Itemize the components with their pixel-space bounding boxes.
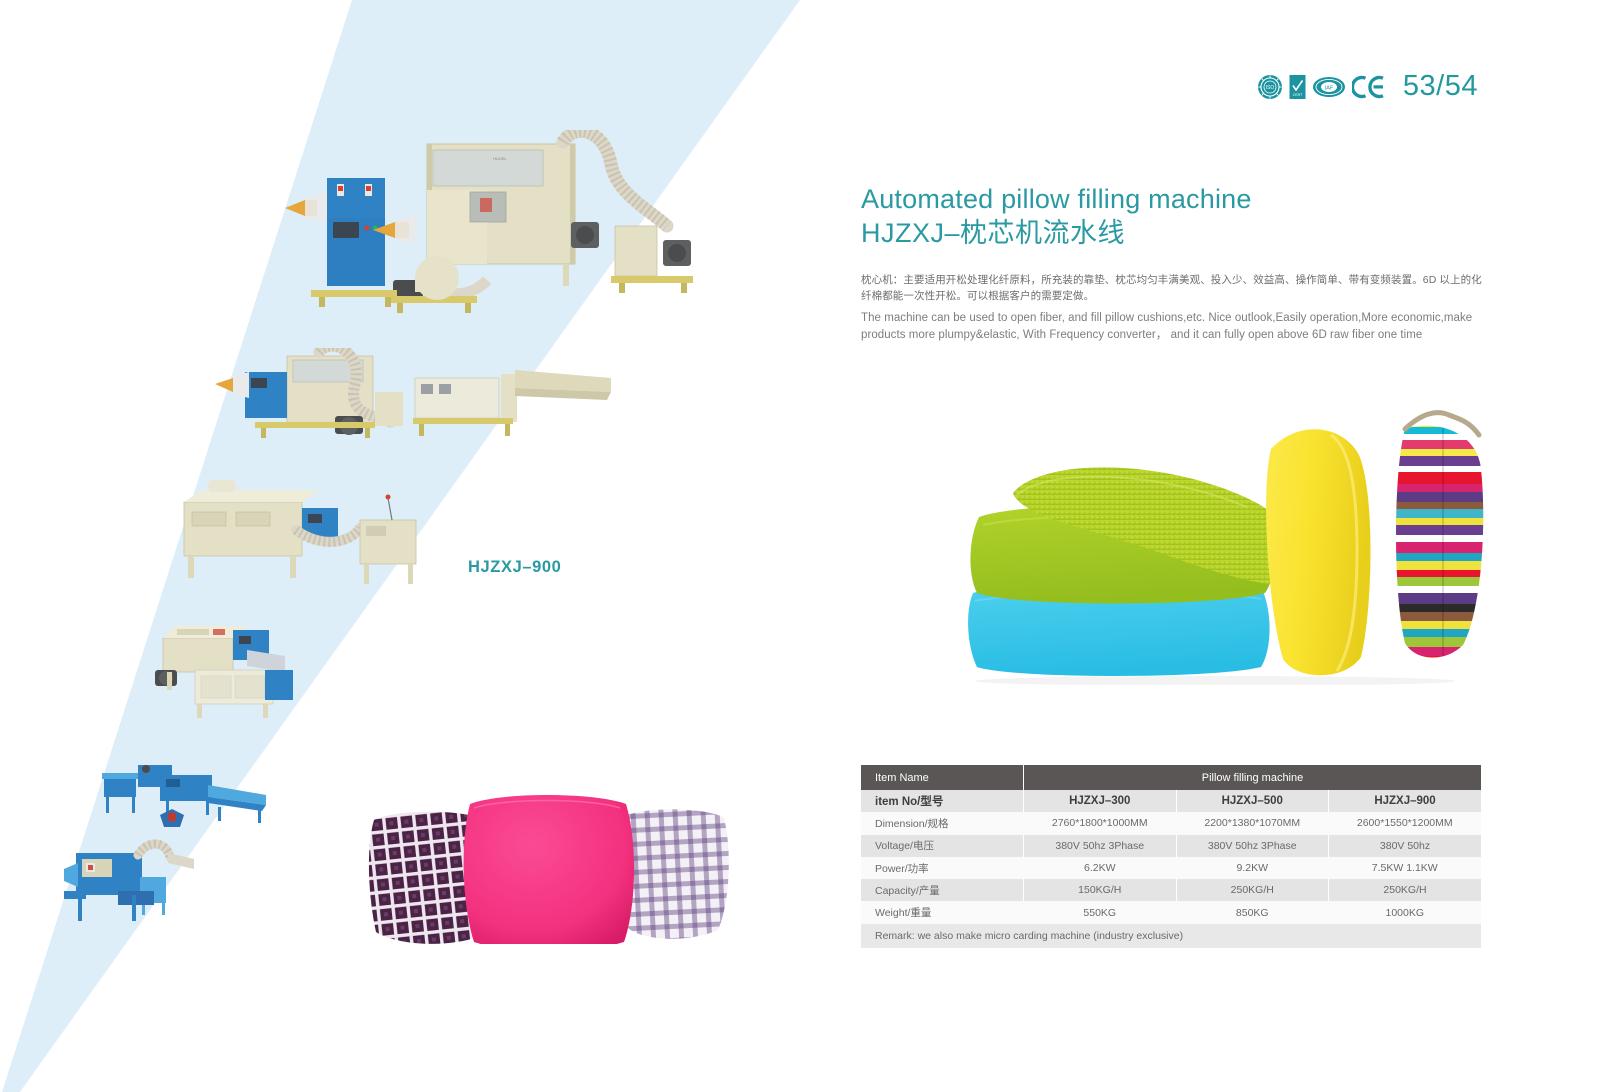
table-row: Power/功率 6.2KW 9.2KW 7.5KW 1.1KW (861, 857, 1481, 879)
remark-text: Remark: we also make micro carding machi… (861, 924, 1481, 948)
header-group: Pillow filling machine (1024, 765, 1482, 790)
row-cell: 2200*1380*1070MM (1176, 812, 1329, 834)
title-english: Automated pillow filling machine (861, 182, 1561, 216)
row-cell: 7.5KW 1.1KW (1329, 857, 1482, 879)
table-row: Voltage/电压 380V 50hz 3Phase 380V 50hz 3P… (861, 835, 1481, 857)
title-chinese: HJZXJ–枕芯机流水线 (861, 216, 1561, 250)
iso-cert-icon: ISO (1257, 74, 1283, 100)
model-label-hjzxj-900: HJZXJ–900 (468, 558, 561, 577)
row-cell: 550KG (1024, 901, 1177, 923)
row-cell: 250KG/H (1176, 879, 1329, 901)
row-label: Dimension/规格 (861, 812, 1024, 834)
table-row: item No/型号 HJZXJ–300 HJZXJ–500 HJZXJ–900 (861, 790, 1481, 812)
row-label: Capacity/产量 (861, 879, 1024, 901)
table-remark-row: Remark: we also make micro carding machi… (861, 924, 1481, 948)
svg-text:HUIJIN: HUIJIN (493, 156, 506, 161)
right-content-column: Automated pillow filling machine HJZXJ–枕… (860, 0, 1600, 1092)
row-cell: 850KG (1176, 901, 1329, 923)
specification-table: Item Name Pillow filling machine item No… (861, 765, 1481, 948)
iaf-cert-icon: IAF (1312, 74, 1346, 100)
row-cell: 2600*1550*1200MM (1329, 812, 1482, 834)
description-english: The machine can be used to open fiber, a… (861, 310, 1475, 345)
row-label: Voltage/电压 (861, 835, 1024, 857)
ce-mark-icon (1352, 74, 1385, 100)
title-block: Automated pillow filling machine HJZXJ–枕… (861, 182, 1561, 250)
machine-photo-line-3 (178, 478, 468, 593)
row-cell: HJZXJ–900 (1329, 790, 1482, 812)
row-label: Weight/重量 (861, 901, 1024, 923)
row-cell: 380V 50hz (1329, 835, 1482, 857)
row-cell: 250KG/H (1329, 879, 1482, 901)
row-cell: 9.2KW (1176, 857, 1329, 879)
description-chinese: 枕心机：主要适用开松处理化纤原料，所充装的靠垫、枕芯均匀丰满美观、投入少、效益高… (861, 272, 1487, 304)
row-cell: 150KG/H (1024, 879, 1177, 901)
row-cell: 380V 50hz 3Phase (1024, 835, 1177, 857)
table-row: Dimension/规格 2760*1800*1000MM 2200*1380*… (861, 812, 1481, 834)
machine-photo-line-5 (100, 755, 280, 835)
check-cert-icon: CERT (1289, 74, 1306, 100)
row-cell: 6.2KW (1024, 857, 1177, 879)
svg-text:ISO: ISO (1266, 85, 1275, 91)
header-certifications: ISO CERT IAF 53/54 (1257, 72, 1478, 101)
bottom-pillow-photo (362, 772, 734, 944)
row-cell: HJZXJ–300 (1024, 790, 1177, 812)
hero-pillow-photo (965, 395, 1490, 685)
page-number: 53/54 (1403, 72, 1478, 101)
machine-photo-line-4 (135, 610, 335, 720)
row-cell: 380V 50hz 3Phase (1176, 835, 1329, 857)
machine-photo-line-1: HUIJIN (275, 130, 705, 345)
machine-photo-line-6 (62, 835, 222, 935)
table-row: Weight/重量 550KG 850KG 1000KG (861, 901, 1481, 923)
svg-text:IAF: IAF (1325, 85, 1334, 91)
row-cell: HJZXJ–500 (1176, 790, 1329, 812)
row-label: item No/型号 (861, 790, 1024, 812)
row-label: Power/功率 (861, 857, 1024, 879)
table-row: Capacity/产量 150KG/H 250KG/H 250KG/H (861, 879, 1481, 901)
machine-photo-line-2 (215, 348, 625, 473)
row-cell: 1000KG (1329, 901, 1482, 923)
svg-text:CERT: CERT (1293, 93, 1304, 97)
table-header-row: Item Name Pillow filling machine (861, 765, 1481, 790)
row-cell: 2760*1800*1000MM (1024, 812, 1177, 834)
header-item-name: Item Name (861, 765, 1024, 790)
